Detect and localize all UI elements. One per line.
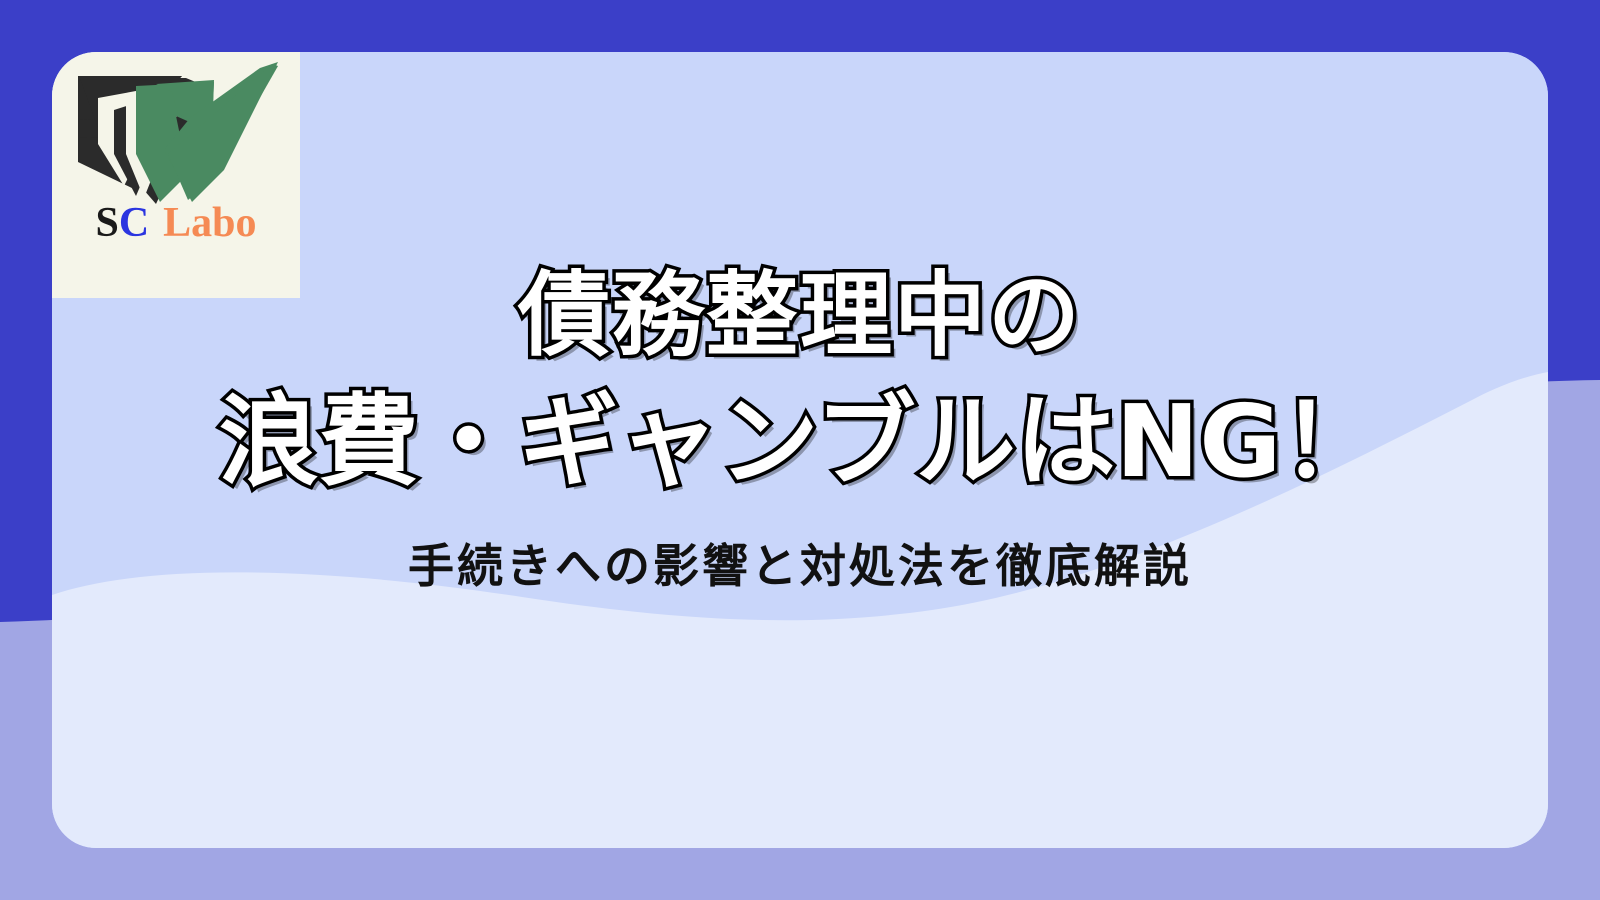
- sc-labo-mark-icon: [64, 58, 288, 218]
- logo-tile: SCLabo: [52, 52, 300, 298]
- content-card: SCLabo 債務整理中の 浪費・ギャンブルはNG！ 手続きへの影響と対処法を徹…: [52, 52, 1548, 848]
- thumbnail-canvas: SCLabo 債務整理中の 浪費・ギャンブルはNG！ 手続きへの影響と対処法を徹…: [0, 0, 1600, 900]
- logo-word-labo: Labo: [163, 200, 256, 246]
- logo-wordmark: SCLabo: [52, 202, 300, 244]
- logo-letter-s: S: [95, 200, 118, 246]
- logo-letter-c: C: [119, 200, 149, 246]
